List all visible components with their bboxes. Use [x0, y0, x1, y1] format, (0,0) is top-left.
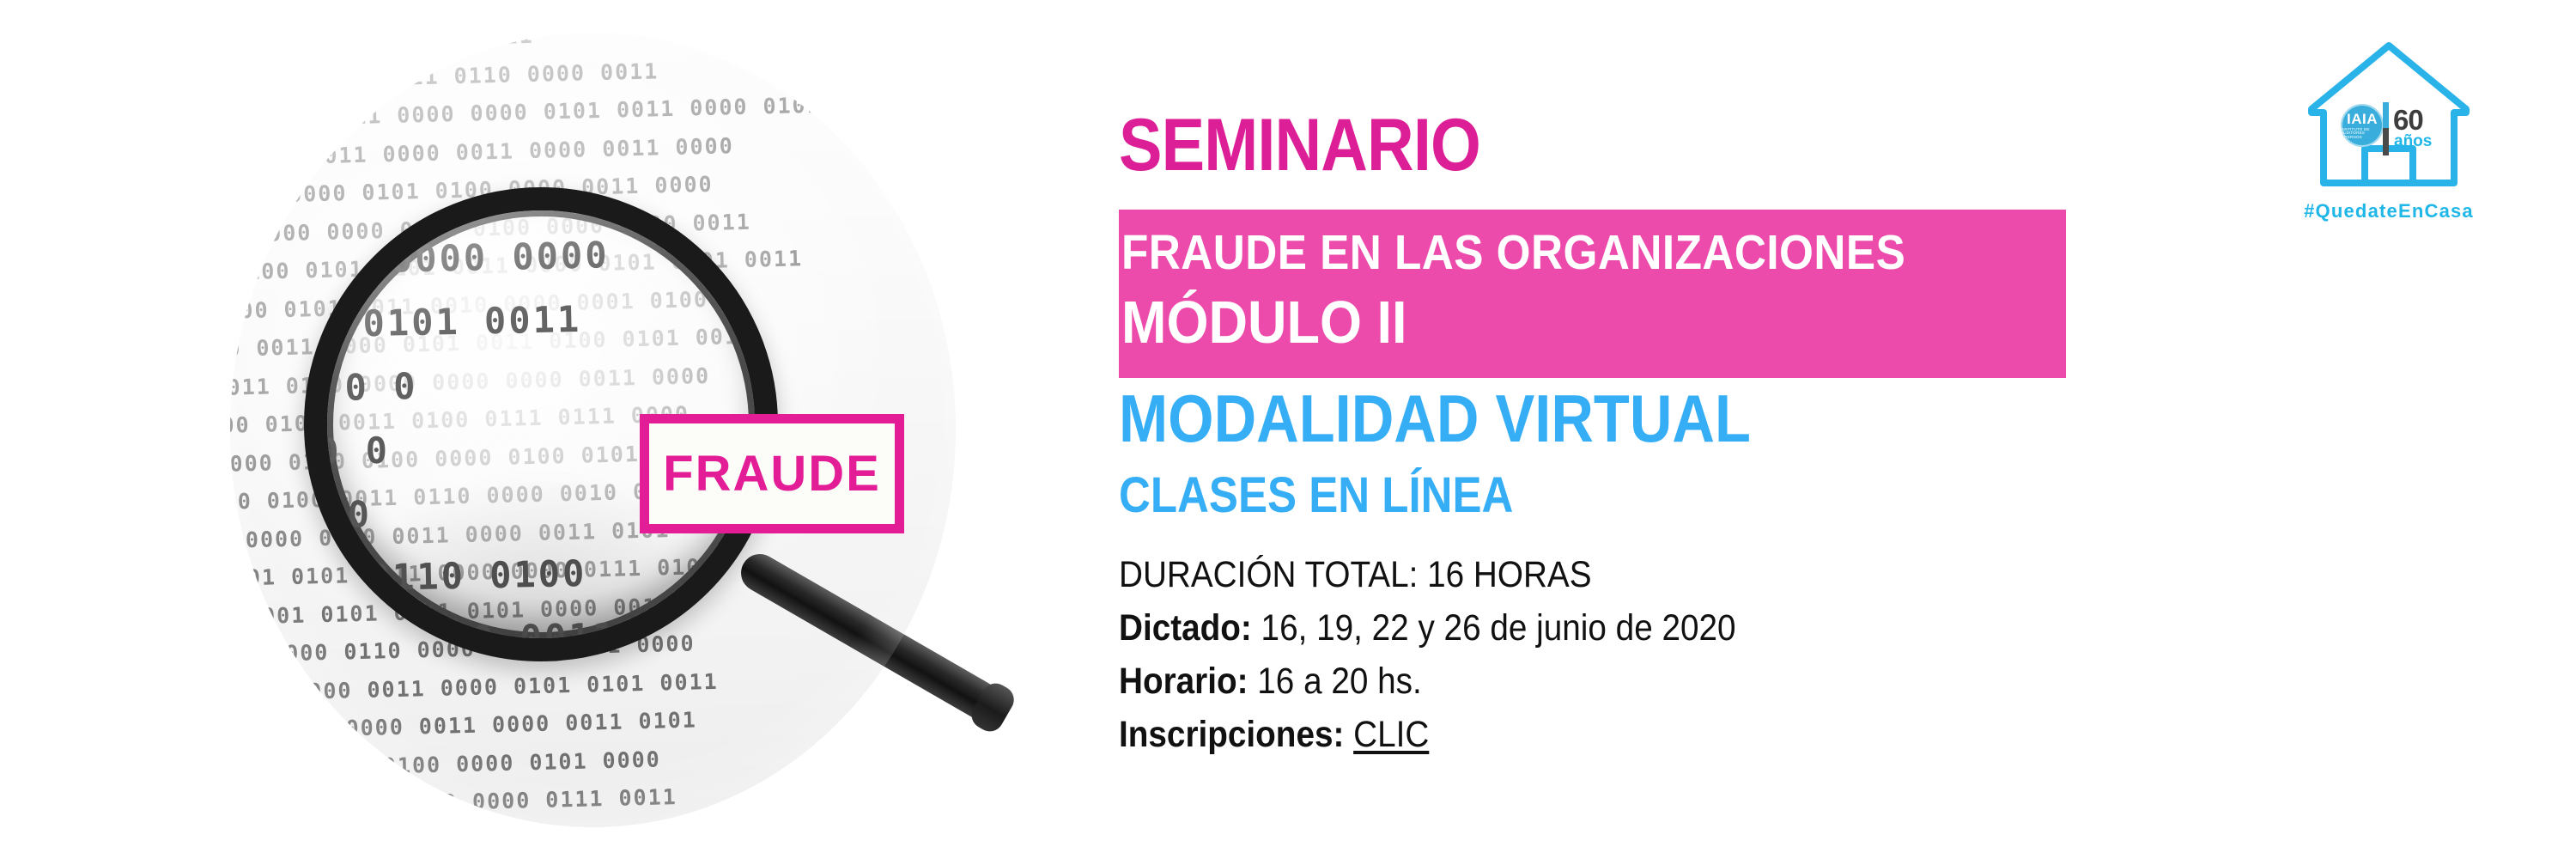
modality-heading: MODALIDAD VIRTUAL [1119, 385, 1751, 452]
detail-schedule-label: Horario: [1119, 661, 1249, 702]
detail-schedule-value: 16 a 20 hs. [1257, 661, 1422, 702]
seminar-details-list: DURACIÓN TOTAL: 16 HORAS Dictado: 16, 19… [1119, 548, 2063, 761]
iaia-seal-subtext: INSTITUTO DE AUDITORES INTERNOS [2341, 128, 2384, 140]
modality-subheading: CLASES EN LÍNEA [1119, 471, 1513, 521]
detail-schedule: Horario: 16 a 20 hs. [1119, 655, 1969, 708]
magnified-binary-row: 0101 0101 0011 [327, 281, 755, 358]
detail-registration: Inscripciones: CLIC [1119, 708, 1969, 761]
hero-image: 0000 0011 0100 0000 00110001 0100 0100 0… [230, 33, 956, 827]
iaia-seal-icon: IAIA INSTITUTO DE AUDITORES INTERNOS [2341, 104, 2384, 147]
magnified-binary-row: 0011 0000 0000 [327, 217, 755, 295]
house-outline-icon [2286, 23, 2492, 199]
fraude-stamp-box: FRAUDE [640, 414, 904, 533]
detail-dates: Dictado: 16, 19, 22 y 26 de junio de 202… [1119, 601, 1969, 655]
magnified-binary-row: 01 0 0 [327, 344, 755, 422]
banner-subject-line: FRAUDE EN LAS ORGANIZACIONES [1121, 228, 1905, 277]
stay-home-hashtag: #QuedateEnCasa [2286, 202, 2492, 221]
seminar-title-banner: FRAUDE EN LAS ORGANIZACIONES MÓDULO II [1119, 210, 2066, 378]
anniversary-word: años [2394, 133, 2432, 149]
iaia-60-anios-logo: IAIA INSTITUTO DE AUDITORES INTERNOS 60 … [2286, 23, 2492, 238]
iaia-seal-initials: IAIA [2347, 112, 2378, 126]
page-title-seminario: SEMINARIO [1119, 108, 1480, 182]
banner-module-line: MÓDULO II [1121, 292, 1406, 352]
anniversary-number: 60 [2393, 106, 2423, 134]
registration-link[interactable]: CLIC [1353, 714, 1429, 755]
magnified-binary-row: 0000 0110 0100 [327, 535, 755, 612]
detail-registration-label: Inscripciones: [1119, 714, 1344, 755]
detail-duration: DURACIÓN TOTAL: 16 HORAS [1119, 548, 1969, 601]
fraude-stamp-label: FRAUDE [663, 449, 881, 499]
logo-divider-icon [2383, 102, 2389, 155]
detail-dates-label: Dictado: [1119, 607, 1252, 649]
detail-dates-value: 16, 19, 22 y 26 de junio de 2020 [1261, 607, 1736, 649]
